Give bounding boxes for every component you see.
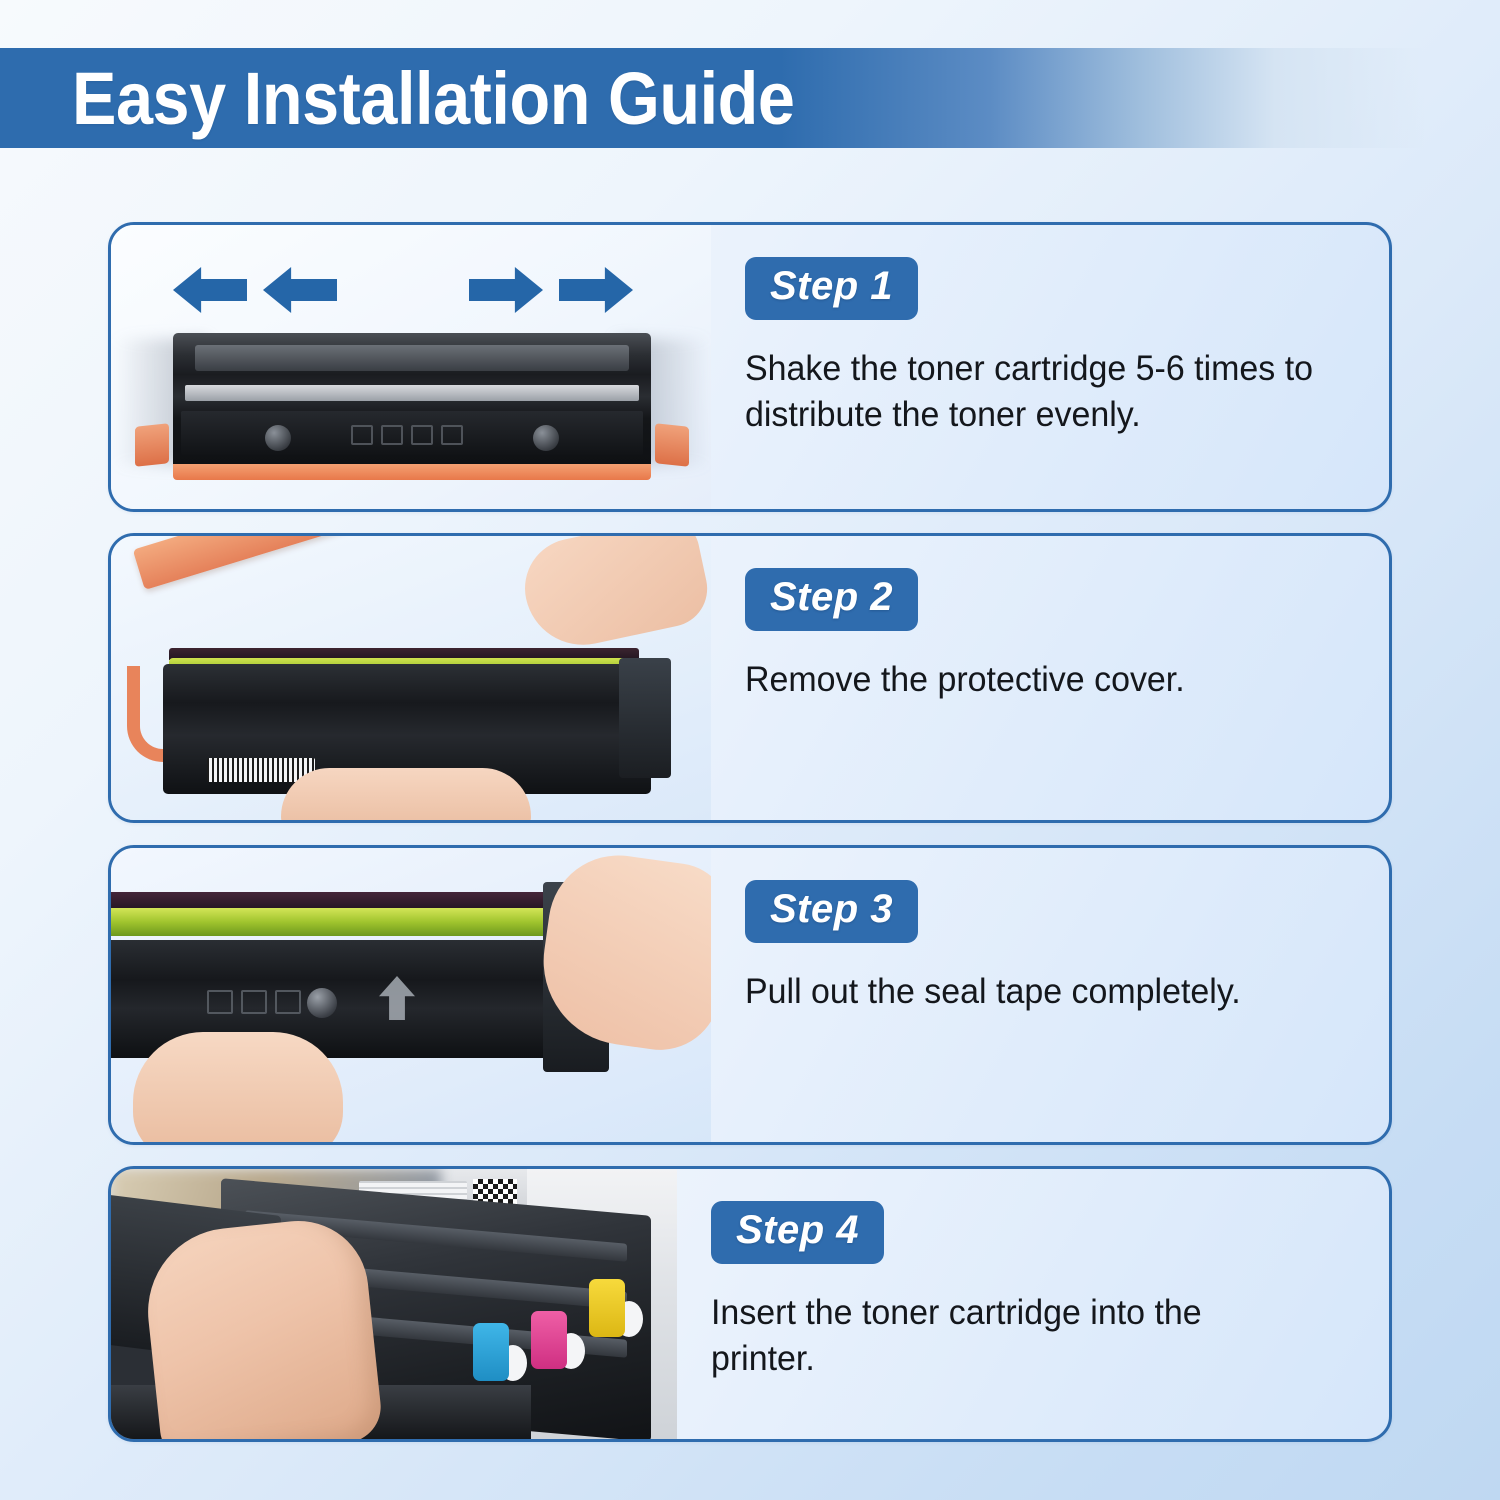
arrow-right-icon (559, 267, 633, 313)
yellow-cartridge-handle (589, 1279, 625, 1337)
step-badge-1: Step 1 (745, 257, 918, 320)
step-card-3: Step 3 Pull out the seal tape completely… (108, 845, 1392, 1145)
step-4-illustration (111, 1169, 677, 1439)
step-description-3: Pull out the seal tape completely. (745, 969, 1346, 1015)
page-title: Easy Installation Guide (72, 56, 794, 141)
hand-graphic (516, 536, 711, 656)
arrow-left-icon (263, 267, 337, 313)
step-1-illustration (111, 225, 711, 509)
hand-graphic (133, 1032, 343, 1142)
step-description-1: Shake the toner cartridge 5-6 times to d… (745, 346, 1346, 438)
step-card-2: Step 2 Remove the protective cover. (108, 533, 1392, 823)
step-description-2: Remove the protective cover. (745, 657, 1346, 703)
step-3-illustration (111, 848, 711, 1142)
step-4-text: Step 4 Insert the toner cartridge into t… (677, 1169, 1389, 1439)
step-description-4: Insert the toner cartridge into the prin… (711, 1290, 1312, 1382)
step-2-text: Step 2 Remove the protective cover. (711, 536, 1389, 820)
arrow-left-icon (173, 267, 247, 313)
header-banner: Easy Installation Guide (0, 48, 1500, 148)
arrow-up-icon (379, 976, 415, 1020)
step-3-text: Step 3 Pull out the seal tape completely… (711, 848, 1389, 1142)
cyan-cartridge-handle (473, 1323, 509, 1381)
step-card-1: Step 1 Shake the toner cartridge 5-6 tim… (108, 222, 1392, 512)
step-badge-3: Step 3 (745, 880, 918, 943)
hand-graphic (140, 1214, 384, 1439)
step-card-4: Step 4 Insert the toner cartridge into t… (108, 1166, 1392, 1442)
installation-guide-page: Easy Installation Guide (0, 0, 1500, 1500)
step-badge-4: Step 4 (711, 1201, 884, 1264)
step-2-illustration (111, 536, 711, 820)
protective-cover (133, 536, 556, 590)
drum-roller (111, 908, 575, 936)
magenta-cartridge-handle (531, 1311, 567, 1369)
step-1-text: Step 1 Shake the toner cartridge 5-6 tim… (711, 225, 1389, 509)
step-badge-2: Step 2 (745, 568, 918, 631)
arrow-right-icon (469, 267, 543, 313)
toner-cartridge-graphic (173, 333, 651, 471)
hand-graphic (281, 768, 531, 820)
